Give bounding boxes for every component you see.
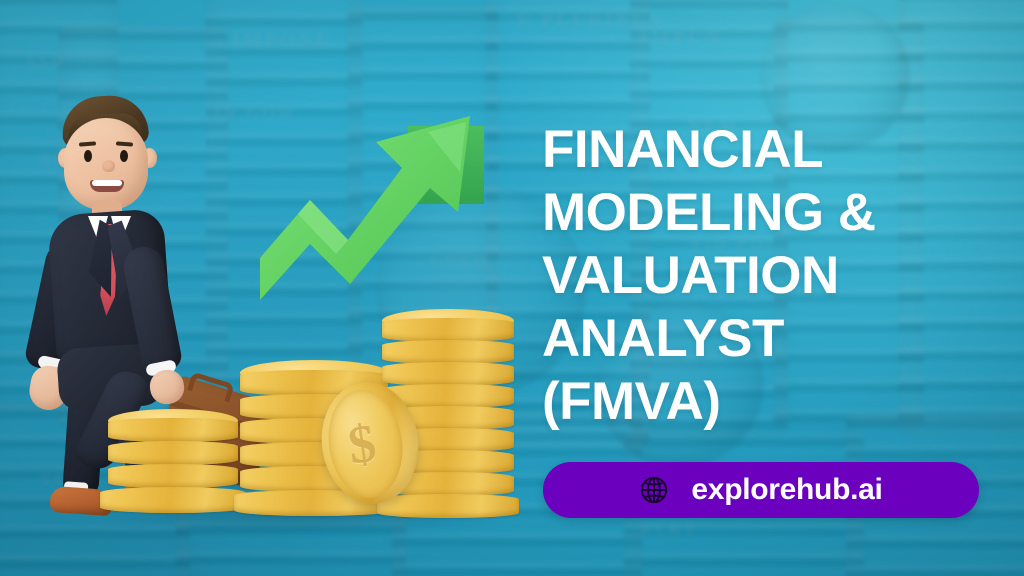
dollar-sign: $ — [319, 412, 406, 477]
coin — [108, 441, 238, 465]
website-url-button[interactable]: explorehub.ai — [543, 462, 979, 518]
coin — [382, 340, 514, 364]
dollar-coin-icon: $ — [314, 376, 426, 510]
coin — [382, 318, 514, 342]
coin — [100, 487, 246, 513]
page-title: FINANCIAL MODELING & VALUATION ANALYST (… — [542, 118, 994, 433]
character-eye — [120, 150, 128, 162]
website-url-label: explorehub.ai — [691, 475, 882, 505]
coin — [108, 418, 238, 442]
character-eye — [84, 150, 92, 162]
globe-icon — [639, 475, 669, 505]
hero-illustration: $ — [0, 0, 540, 576]
coin — [108, 464, 238, 488]
growth-arrow-icon — [258, 108, 498, 323]
character-mouth — [90, 180, 124, 192]
coin-stack-left — [108, 418, 238, 512]
character-nose — [102, 160, 115, 172]
course-promo-banner: IMPONE E PLURIBUS IMPUN SSD IN GOD NEM S… — [0, 0, 1024, 576]
